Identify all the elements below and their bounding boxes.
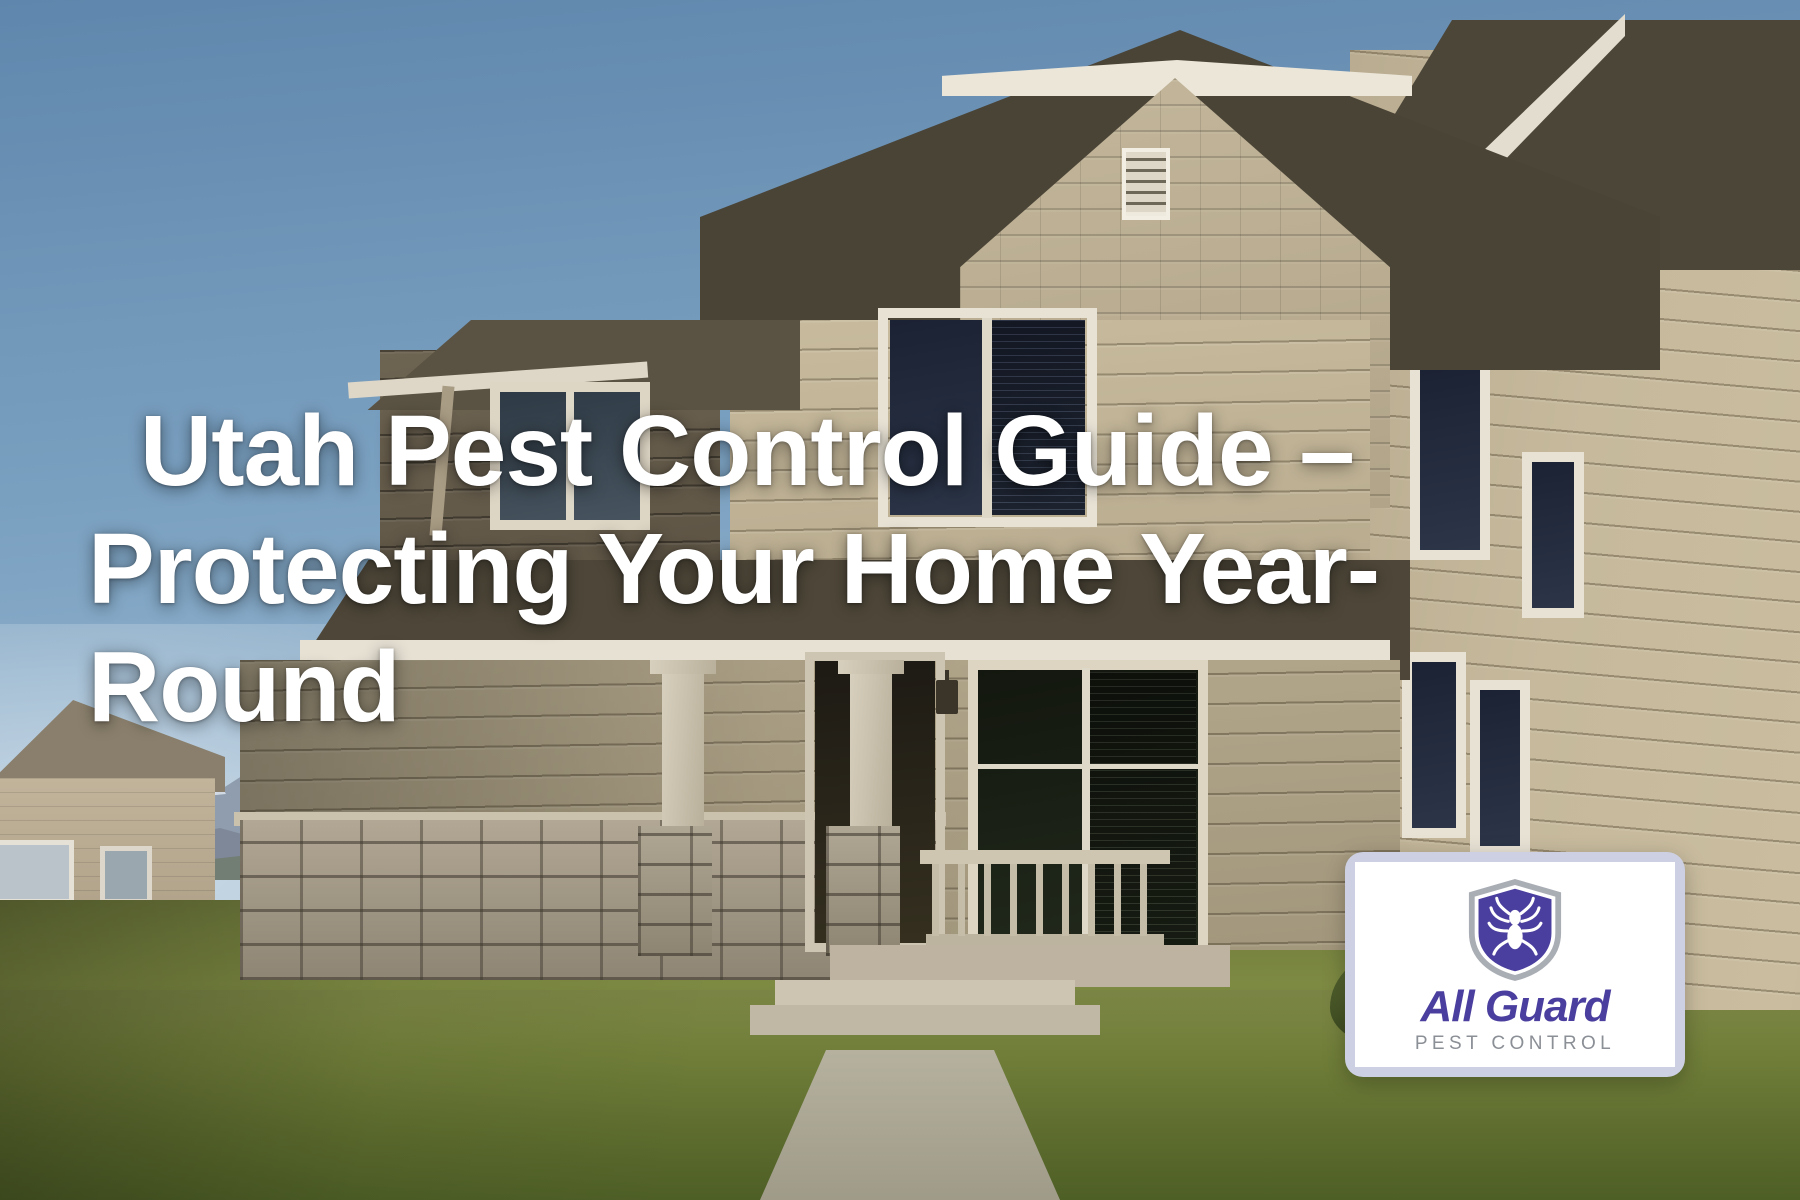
porch-slider-crossbar xyxy=(978,764,1198,769)
baluster xyxy=(1010,864,1017,936)
banner-title-line-2: Protecting Your Home Year-Round xyxy=(88,510,1560,746)
brand-logo-card[interactable]: All Guard PEST CONTROL xyxy=(1345,852,1685,1077)
banner-title: Utah Pest Control Guide – Protecting You… xyxy=(140,392,1560,746)
banner-title-line-1: Utah Pest Control Guide – xyxy=(140,392,1560,510)
porch-column-1-base-texture xyxy=(638,826,712,956)
baluster xyxy=(932,864,939,936)
shield-icon xyxy=(1467,879,1563,981)
brand-name: All Guard xyxy=(1420,985,1609,1029)
porch-column-2-base-texture xyxy=(826,826,900,956)
baluster xyxy=(984,864,991,936)
baluster xyxy=(1140,864,1147,936)
baluster xyxy=(958,864,965,936)
baluster xyxy=(1114,864,1121,936)
hero-banner: Utah Pest Control Guide – Protecting You… xyxy=(0,0,1800,1200)
brand-logo-inner: All Guard PEST CONTROL xyxy=(1355,862,1675,1067)
baluster xyxy=(1062,864,1069,936)
railing-top-rail xyxy=(920,850,1170,864)
neighbor-window xyxy=(0,840,74,904)
porch-railing xyxy=(920,850,1170,955)
shield-with-spider-icon xyxy=(1467,879,1563,981)
baluster xyxy=(1088,864,1095,936)
baluster xyxy=(1036,864,1043,936)
porch-step-lower xyxy=(750,1005,1100,1035)
brand-tagline: PEST CONTROL xyxy=(1415,1033,1615,1055)
gable-vent-louvers xyxy=(1126,158,1166,212)
neighbor-window-small xyxy=(100,846,152,904)
